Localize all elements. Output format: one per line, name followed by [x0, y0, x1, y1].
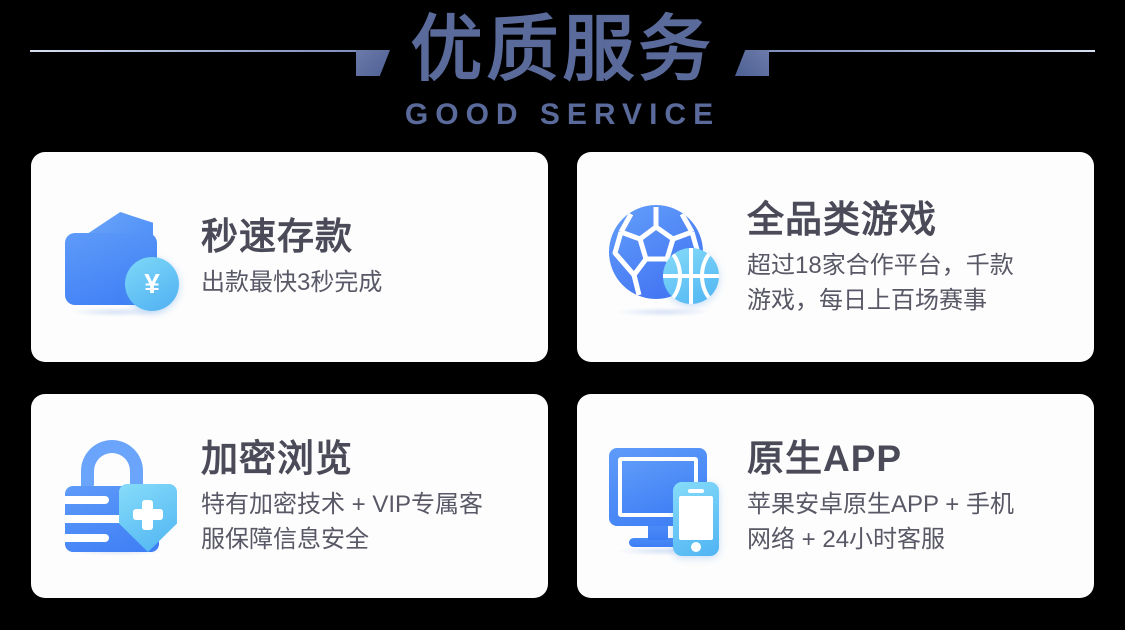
- basketball-icon: [663, 248, 719, 304]
- phone-screen-icon: [679, 496, 713, 540]
- card-subtitle: 出款最快3秒完成: [201, 265, 540, 300]
- card-subtitle-line1: 苹果安卓原生APP + 手机: [747, 487, 1077, 522]
- lock-slot: [65, 496, 109, 504]
- plus-icon: [142, 500, 153, 530]
- card-subtitle-line1: 特有加密技术 + VIP专属客: [201, 487, 531, 522]
- lock-shield-icon: [59, 434, 183, 558]
- phone-speaker-icon: [688, 489, 704, 493]
- card-subtitle: 苹果安卓原生APP + 手机 网络 + 24小时客服: [747, 487, 1077, 557]
- feature-card-native-app[interactable]: 原生APP 苹果安卓原生APP + 手机 网络 + 24小时客服: [577, 394, 1094, 598]
- card-title: 原生APP: [747, 436, 1086, 482]
- page-title: 优质服务: [0, 8, 1125, 92]
- card-title: 秒速存款: [201, 214, 540, 260]
- monitor-stand-icon: [648, 526, 668, 540]
- page-subtitle: GOOD SERVICE: [0, 98, 1125, 132]
- card-subtitle-line2: 游戏，每日上百场赛事: [747, 283, 1077, 318]
- phone-home-button-icon: [691, 542, 701, 552]
- card-subtitle-line2: 服保障信息安全: [201, 522, 531, 557]
- monitor-phone-icon: [605, 434, 729, 558]
- page-header: 优质服务 GOOD SERVICE: [0, 0, 1125, 146]
- card-text: 全品类游戏 超过18家合作平台，千款 游戏，每日上百场赛事: [747, 197, 1094, 318]
- yen-symbol: ¥: [144, 270, 160, 298]
- feature-card-grid: ¥ 秒速存款 出款最快3秒完成: [31, 152, 1094, 598]
- card-title: 加密浏览: [201, 436, 540, 482]
- soccer-basketball-icon: [605, 195, 729, 319]
- card-title: 全品类游戏: [747, 197, 1086, 243]
- lock-slot: [65, 515, 123, 523]
- card-subtitle: 超过18家合作平台，千款 游戏，每日上百场赛事: [747, 248, 1077, 318]
- card-subtitle-line1: 超过18家合作平台，千款: [747, 248, 1077, 283]
- wallet-yen-icon: ¥: [59, 195, 183, 319]
- card-subtitle-line2: 网络 + 24小时客服: [747, 522, 1077, 557]
- lock-slot: [65, 534, 109, 542]
- icon-shadow: [615, 307, 711, 317]
- card-subtitle: 特有加密技术 + VIP专属客 服保障信息安全: [201, 487, 531, 557]
- feature-card-encryption[interactable]: 加密浏览 特有加密技术 + VIP专属客 服保障信息安全: [31, 394, 548, 598]
- feature-card-games[interactable]: 全品类游戏 超过18家合作平台，千款 游戏，每日上百场赛事: [577, 152, 1094, 362]
- card-text: 秒速存款 出款最快3秒完成: [201, 214, 548, 300]
- card-text: 加密浏览 特有加密技术 + VIP专属客 服保障信息安全: [201, 436, 548, 557]
- smartphone-icon: [673, 482, 719, 556]
- card-text: 原生APP 苹果安卓原生APP + 手机 网络 + 24小时客服: [747, 436, 1094, 557]
- feature-card-deposit[interactable]: ¥ 秒速存款 出款最快3秒完成: [31, 152, 548, 362]
- yen-coin-icon: ¥: [125, 257, 179, 311]
